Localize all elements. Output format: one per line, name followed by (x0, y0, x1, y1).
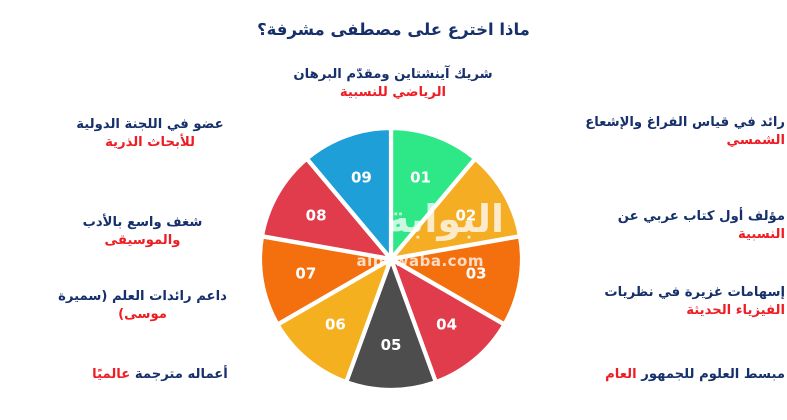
slice-label-05: مبسط العلوم للجمهور العام (520, 366, 785, 384)
pie-slice-number-05: 05 (381, 336, 402, 354)
slice-label-01-highlight: الرياضي للنسبية (340, 85, 446, 100)
slice-label-07: داعم رائدات العلم (سميرة موسى) (10, 288, 275, 324)
slice-label-05-highlight: العام (605, 367, 637, 382)
slice-label-09: عضو في اللجنة الدولية للأبحاث الذرية (10, 116, 290, 152)
slice-label-09-highlight: للأبحاث الذرية (105, 135, 195, 150)
slice-label-09-main: عضو في اللجنة الدولية (76, 117, 223, 132)
slice-label-08-main: شغف واسع بالأدب (83, 215, 203, 230)
slice-label-08-highlight: والموسيقى (105, 233, 181, 248)
slice-label-08: شغف واسع بالأدب والموسيقى (10, 214, 275, 250)
slice-label-01-main: شريك آينشتاين ومقدّم البرهان (293, 67, 492, 82)
slice-label-03-main: مؤلف أول كتاب عربي عن (618, 209, 785, 224)
slice-label-06-main: أعماله مترجمة (135, 367, 228, 382)
slice-label-04-main: إسهامات غزيرة في نظريات (604, 285, 785, 300)
slice-label-02-highlight: الشمسي (727, 133, 786, 148)
pie-slice-number-09: 09 (351, 168, 372, 186)
page-title: ماذا اخترع على مصطفى مشرفة؟ (0, 20, 787, 39)
pie-slice-number-01: 01 (410, 168, 431, 186)
slice-label-06-highlight: عالميًا (92, 367, 130, 382)
pie-slice-number-07: 07 (295, 265, 316, 283)
slice-label-06: أعماله مترجمة عالميًا (10, 366, 310, 384)
infographic-page: ماذا اخترع على مصطفى مشرفة؟ 010203040506… (0, 0, 787, 420)
slice-label-04-highlight: الفيزياء الحديثة (686, 303, 785, 318)
slice-label-02-main: رائد في قياس الفراغ والإشعاع (585, 115, 785, 130)
slice-label-04: إسهامات غزيرة في نظريات الفيزياء الحديثة (520, 284, 785, 320)
pie-chart-svg: 010203040506070809 (258, 126, 524, 392)
slice-label-03-highlight: النسبية (738, 227, 785, 242)
slice-label-05-main: مبسط العلوم للجمهور (641, 367, 785, 382)
pie-slice-number-06: 06 (325, 316, 346, 334)
slice-label-03: مؤلف أول كتاب عربي عن النسبية (520, 208, 785, 244)
slice-label-01: شريك آينشتاين ومقدّم البرهان الرياضي للن… (243, 66, 543, 102)
pie-slice-number-04: 04 (436, 316, 457, 334)
pie-chart: 010203040506070809 (258, 126, 524, 392)
slice-label-02: رائد في قياس الفراغ والإشعاع الشمسي (520, 114, 785, 150)
pie-slice-number-02: 02 (455, 206, 476, 224)
pie-slice-number-03: 03 (466, 265, 487, 283)
pie-slice-number-08: 08 (306, 206, 327, 224)
slice-label-07-main: داعم رائدات العلم (سميرة (58, 289, 227, 304)
slice-label-07-highlight: موسى) (118, 307, 167, 322)
